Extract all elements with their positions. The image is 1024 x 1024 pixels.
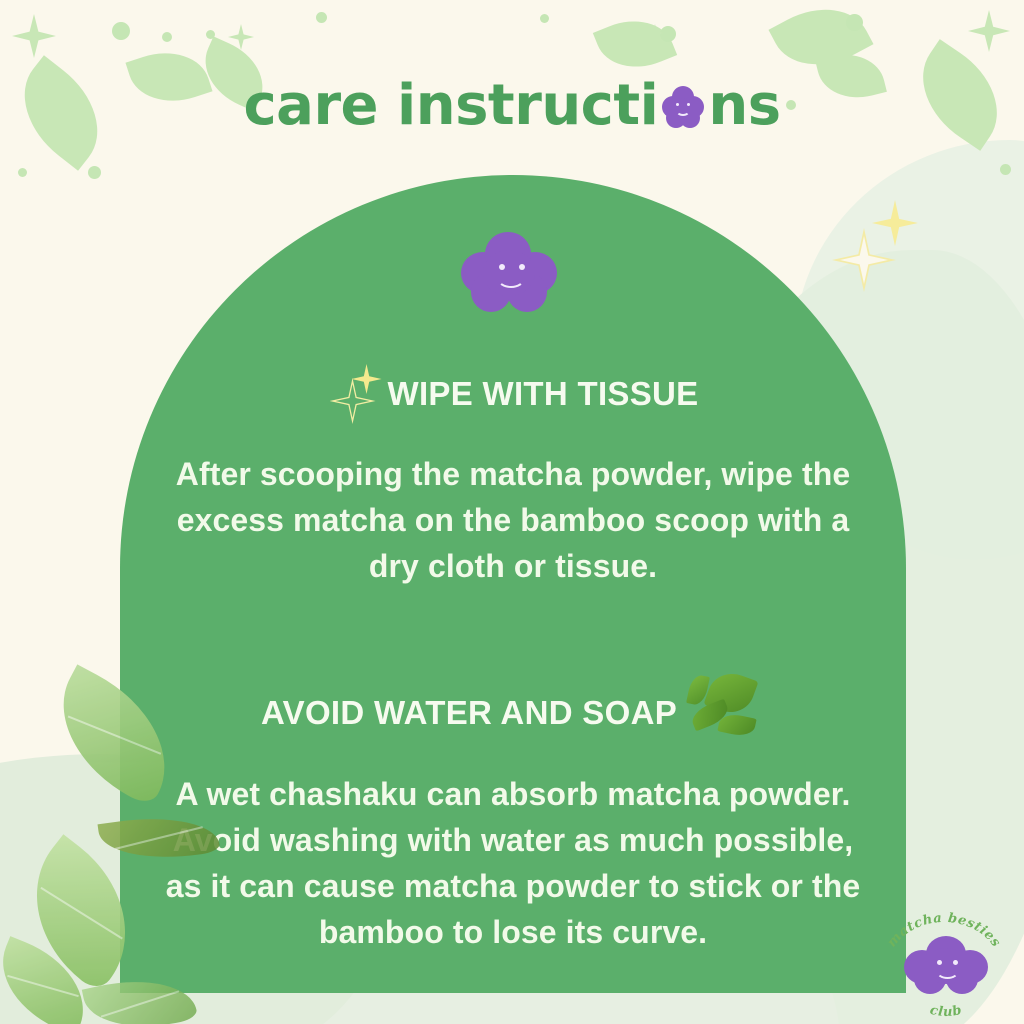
section-avoid-water-and-soap: AVOID WATER AND SOAP A wet chashaku can … xyxy=(138,675,888,955)
decorative-dot xyxy=(88,166,101,179)
decorative-dot xyxy=(162,32,172,42)
page-title: care instructi ns xyxy=(0,78,1024,134)
decorative-dot xyxy=(206,30,215,39)
decorative-dot xyxy=(316,12,327,23)
sparkle-inner-cutout xyxy=(336,384,370,418)
section-body-text: After scooping the matcha powder, wipe t… xyxy=(138,451,888,589)
decorative-dot xyxy=(540,14,549,23)
section-body-text: A wet chashaku can absorb matcha powder.… xyxy=(138,771,888,955)
sparkle-filled-shape xyxy=(352,364,382,394)
decorative-leaf-icon xyxy=(593,7,677,81)
brand-badge-bottom-text: club xyxy=(928,1003,963,1018)
care-instructions-poster: care instructi ns xyxy=(0,0,1024,1024)
decorative-dot xyxy=(846,60,856,70)
page-title-text-before: care instructi xyxy=(243,78,658,134)
title-flower-icon xyxy=(659,84,707,132)
sparkle-icon xyxy=(328,362,390,424)
section-heading-row: WIPE WITH TISSUE xyxy=(328,362,699,424)
section-wipe-with-tissue: WIPE WITH TISSUE After scooping the matc… xyxy=(138,362,888,589)
decorative-dot xyxy=(18,168,27,177)
decorative-sparkle-icon xyxy=(228,24,254,50)
decorative-sparkle-icon xyxy=(646,24,664,42)
decorative-dot xyxy=(112,22,130,40)
decorative-dot xyxy=(660,26,676,42)
section-heading-row: AVOID WATER AND SOAP xyxy=(261,675,765,749)
decorative-sparkle-icon xyxy=(12,14,56,58)
decorative-leaf-icon xyxy=(768,0,873,85)
arch-content: WIPE WITH TISSUE After scooping the matc… xyxy=(120,175,906,993)
splash-leaves-icon xyxy=(683,669,765,743)
brand-badge: matcha besties club xyxy=(878,906,1010,1018)
decorative-dot xyxy=(846,14,863,31)
section-heading-text: WIPE WITH TISSUE xyxy=(388,377,699,410)
decorative-dot xyxy=(1000,164,1011,175)
section-heading-text: AVOID WATER AND SOAP xyxy=(261,696,677,729)
page-title-text-after: ns xyxy=(708,78,780,134)
brand-badge-mascot-icon xyxy=(904,936,988,996)
decorative-sparkle-icon xyxy=(968,10,1010,52)
